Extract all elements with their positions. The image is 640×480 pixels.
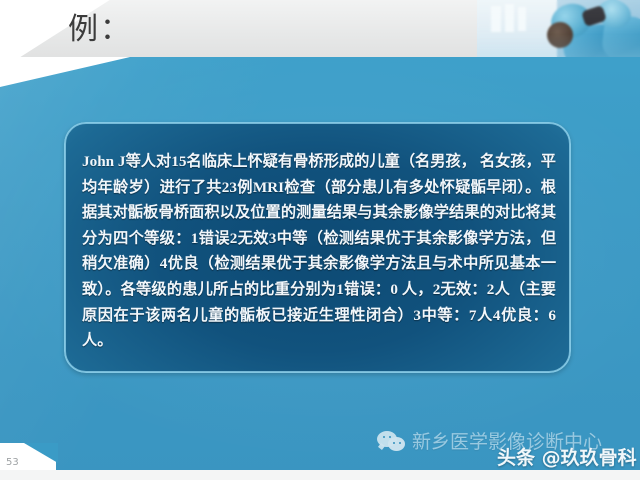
wechat-icon [377, 430, 407, 454]
toutiao-watermark-label: 头条 @玖玖骨科 [497, 447, 637, 469]
page-title: 例： [68, 8, 132, 52]
slide-header: 例： [0, 0, 640, 63]
slide-number: 53 [6, 457, 19, 469]
operating-room-photo [477, 0, 640, 57]
photo-blur-overlay [477, 0, 640, 57]
content-paragraph: John J等人对15名临床上怀疑有骨桥形成的儿童（名男孩， 名女孩，平均年龄岁… [82, 149, 556, 354]
presentation-slide: 例： John J等人对15名临床上怀疑有骨桥形成的儿童（名男孩， 名女孩，平均… [0, 0, 640, 480]
content-panel: John J等人对15名临床上怀疑有骨桥形成的儿童（名男孩， 名女孩，平均年龄岁… [64, 122, 571, 373]
bottom-strip [0, 470, 640, 480]
